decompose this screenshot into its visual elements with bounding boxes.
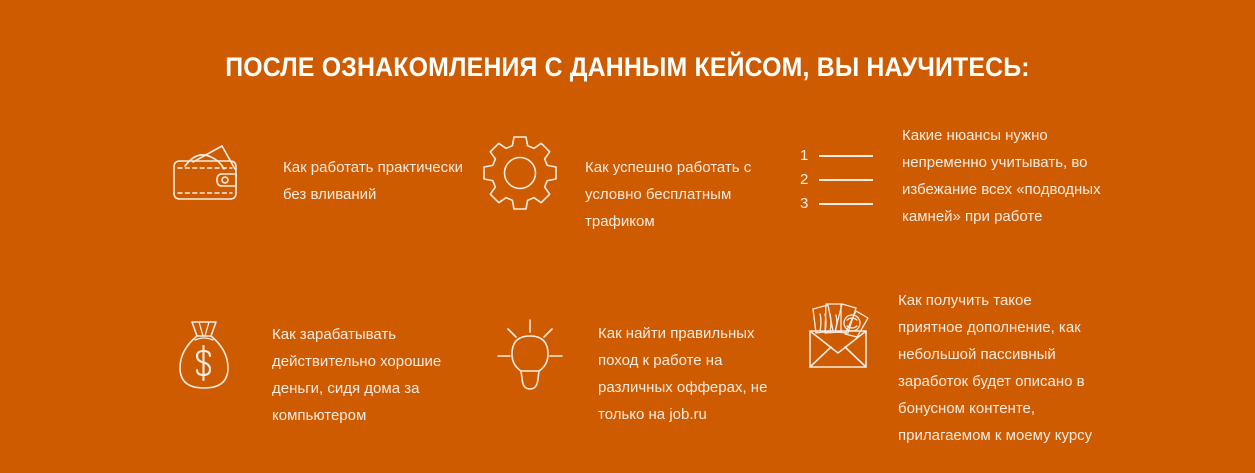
feature-text: Как работать практически без вливаний xyxy=(283,154,479,208)
feature-text: Как получить такое приятное дополнение, … xyxy=(898,287,1094,449)
feature-item-lightbulb: Как найти правильных поход к работе на р… xyxy=(494,316,782,428)
numbered-list-row: 3 xyxy=(800,196,878,211)
numbered-list-line xyxy=(819,179,873,181)
lightbulb-icon xyxy=(494,316,566,396)
feature-item-numbered-list: 1 2 3 Какие нюансы нужно непременно учит… xyxy=(800,122,1102,230)
gear-icon xyxy=(487,140,553,206)
numbered-list-number: 2 xyxy=(800,172,810,187)
money-bag-icon xyxy=(172,316,236,396)
feature-text: Как зарабатывать действительно хорошие д… xyxy=(272,321,456,429)
feature-item-envelope-money: Как получить такое приятное дополнение, … xyxy=(800,287,1094,449)
promo-banner: ПОСЛЕ ОЗНАКОМЛЕНИЯ С ДАННЫМ КЕЙСОМ, ВЫ Н… xyxy=(0,0,1255,473)
numbered-list-number: 3 xyxy=(800,196,810,211)
numbered-list-row: 2 xyxy=(800,172,878,187)
page-title: ПОСЛЕ ОЗНАКОМЛЕНИЯ С ДАННЫМ КЕЙСОМ, ВЫ Н… xyxy=(50,52,1205,82)
feature-item-wallet: Как работать практически без вливаний xyxy=(165,140,479,208)
numbered-list-row: 1 xyxy=(800,148,878,163)
feature-text: Как найти правильных поход к работе на р… xyxy=(598,320,782,428)
numbered-list-icon: 1 2 3 xyxy=(800,122,878,211)
numbered-list-line xyxy=(819,155,873,157)
envelope-money-icon xyxy=(800,287,876,375)
feature-text: Какие нюансы нужно непременно учитывать,… xyxy=(902,122,1102,230)
numbered-list-number: 1 xyxy=(800,148,810,163)
wallet-icon xyxy=(165,140,247,206)
feature-text: Как успешно работать с условно бесплатны… xyxy=(585,154,761,235)
feature-item-gear: Как успешно работать с условно бесплатны… xyxy=(487,140,761,235)
feature-item-money-bag: Как зарабатывать действительно хорошие д… xyxy=(172,316,456,429)
numbered-list-line xyxy=(819,203,873,205)
